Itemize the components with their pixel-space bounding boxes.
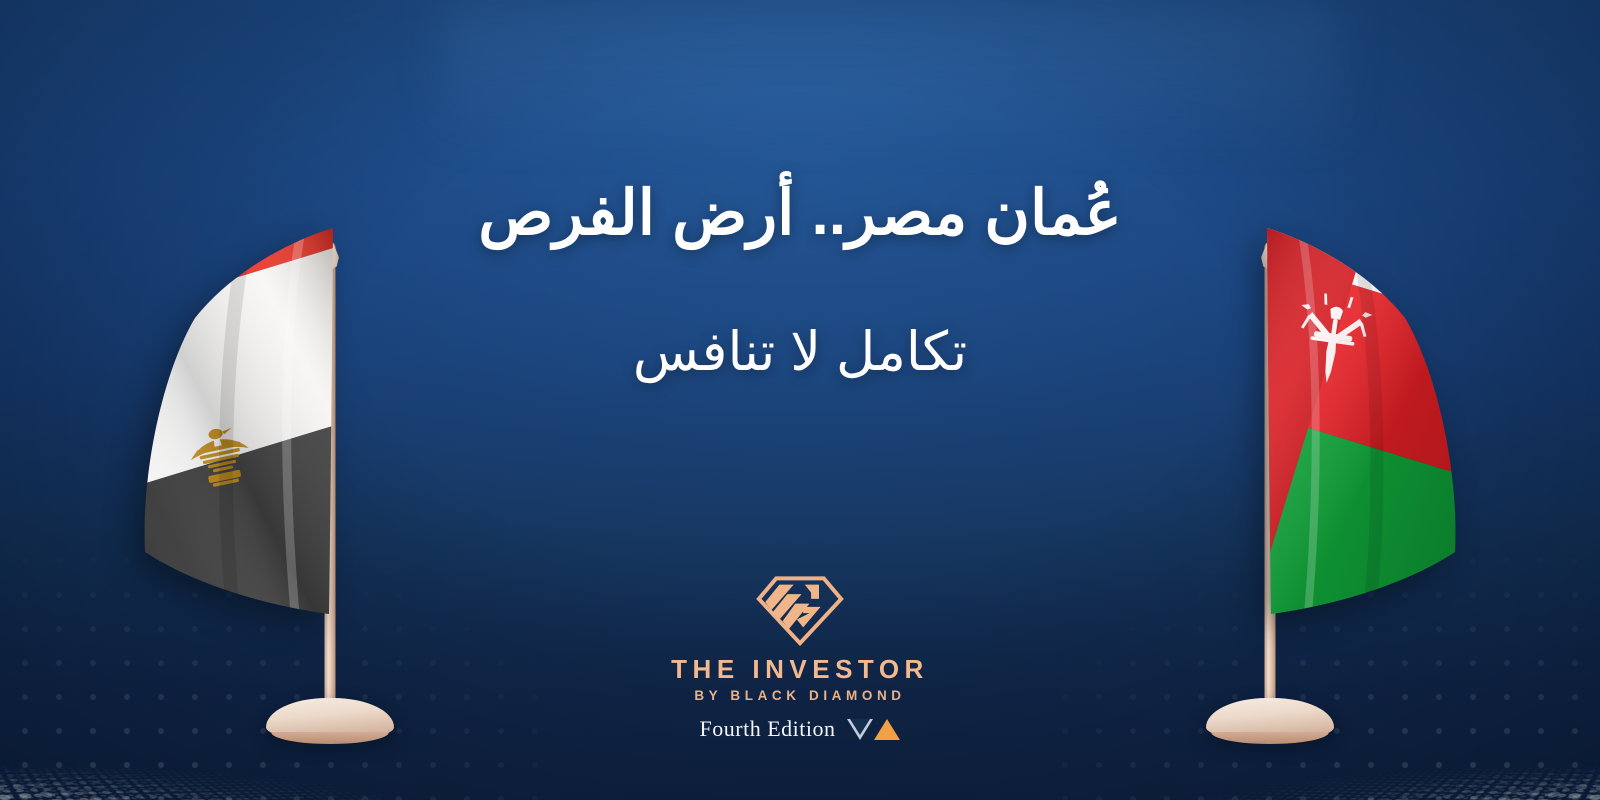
oman-flag-stand [1120,200,1420,740]
event-logo-block: THE INVESTOR BY BLACK DIAMOND Fourth Edi… [590,572,1010,742]
banner-subheadline: تكامل لا تنافس [0,320,1600,383]
flag-base-left [266,698,394,740]
diamond-gem-icon [752,572,848,648]
egypt-flag-stand [180,200,480,740]
edition-label: Fourth Edition [700,716,836,742]
edition-row: Fourth Edition [590,716,1010,742]
edition-triangles [847,719,900,740]
triangle-up-filled-icon [874,719,900,740]
triangle-down-outline-icon [847,719,873,740]
logo-subtitle: BY BLACK DIAMOND [590,688,1010,703]
logo-title: THE INVESTOR [590,656,1010,683]
banner-headline: عُمان مصر.. أرض الفرص [0,176,1600,249]
egypt-flag-cloth [133,222,338,617]
oman-flag-cloth [1262,222,1467,617]
banner-stage: عُمان مصر.. أرض الفرص تكامل لا تنافس THE… [0,0,1600,800]
top-glow-panel [440,0,1340,148]
flag-base-right [1206,698,1334,740]
